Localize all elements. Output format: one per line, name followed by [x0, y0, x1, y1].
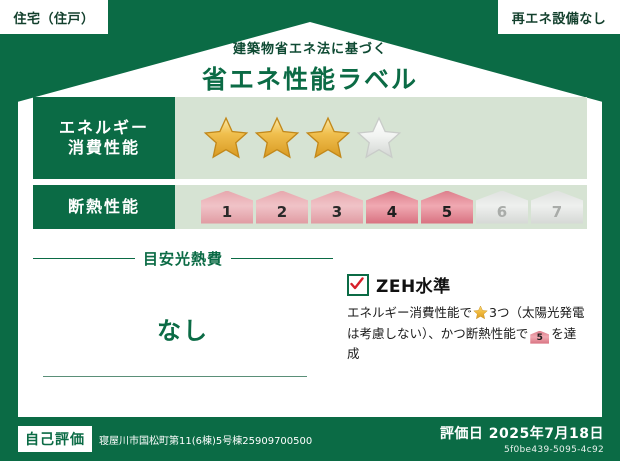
- evaluation-code: 5f0be439-5095-4c92: [440, 445, 604, 455]
- insulation-grade-5: 5: [421, 191, 473, 224]
- utility-cost-underline: [43, 376, 307, 377]
- insulation-grade-4: 4: [366, 191, 418, 224]
- insulation-grade-scale: 1234567: [201, 191, 583, 224]
- zeh-desc-star-count: 3つ（太陽光発電: [489, 305, 584, 320]
- footer-left-group: 自己評価 寝屋川市国松町第11(6棟)5号棟25909700500: [18, 426, 312, 452]
- zeh-checkbox[interactable]: [347, 274, 369, 296]
- check-icon: [350, 277, 364, 291]
- energy-label-line1: エネルギー: [59, 118, 149, 138]
- zeh-description: エネルギー消費性能で3つ（太陽光発電 は考慮しない）、かつ断熱性能で5を達成: [347, 303, 587, 365]
- zeh-desc-part1: エネルギー消費性能で: [347, 305, 472, 320]
- utility-cost-heading: 目安光熱費: [33, 248, 333, 269]
- insulation-grade-7: 7: [531, 191, 583, 224]
- energy-performance-label: 住宅（住戸） 再エネ設備なし 建築物省エネ法に基づく 省エネ性能ラベル エネルギ…: [0, 0, 620, 461]
- performance-rows: エネルギー 消費性能 断熱性能 1234567: [33, 97, 587, 235]
- renewable-equipment-badge: 再エネ設備なし: [502, 4, 616, 30]
- insulation-performance-row: 断熱性能 1234567: [33, 185, 587, 229]
- label-footer: 自己評価 寝屋川市国松町第11(6棟)5号棟25909700500 評価日 20…: [0, 417, 620, 461]
- star-empty-icon: [356, 115, 402, 161]
- property-address: 寝屋川市国松町第11(6棟)5号棟25909700500: [99, 432, 312, 447]
- insulation-grade-1: 1: [201, 191, 253, 224]
- zeh-title: ZEH水準: [376, 272, 451, 297]
- evaluation-date: 評価日 2025年7月18日: [440, 423, 604, 443]
- heading-rule-right: [231, 258, 333, 259]
- utility-cost-heading-text: 目安光熱費: [143, 248, 223, 269]
- utility-cost-value: なし: [33, 311, 333, 346]
- house-type-badge: 住宅（住戸）: [4, 4, 104, 30]
- star-filled-icon: [254, 115, 300, 161]
- footer-right-group: 評価日 2025年7月18日 5f0be439-5095-4c92: [440, 423, 604, 455]
- star-filled-icon: [305, 115, 351, 161]
- heading-rule-left: [33, 258, 135, 259]
- energy-performance-label: エネルギー 消費性能: [33, 97, 175, 179]
- utility-cost-section: 目安光熱費 なし: [33, 248, 333, 365]
- insulation-grade-2: 2: [256, 191, 308, 224]
- inline-grade-badge: 5: [530, 331, 549, 344]
- insulation-performance-label: 断熱性能: [33, 185, 175, 229]
- star-filled-icon: [203, 115, 249, 161]
- star-rating: [203, 115, 402, 161]
- insulation-label-line1: 断熱性能: [68, 197, 140, 217]
- zeh-header: ZEH水準: [347, 272, 587, 297]
- lower-section: 目安光熱費 なし ZEH水準 エネルギー消費性能で3つ（太陽光発電 は考慮しない…: [33, 248, 587, 365]
- evaluation-type-badge: 自己評価: [18, 426, 92, 452]
- insulation-grade-6: 6: [476, 191, 528, 224]
- energy-performance-row: エネルギー 消費性能: [33, 97, 587, 179]
- insulation-grade-3: 3: [311, 191, 363, 224]
- inline-star-icon: [473, 305, 488, 320]
- insulation-performance-value: 1234567: [175, 185, 587, 229]
- zeh-section: ZEH水準 エネルギー消費性能で3つ（太陽光発電 は考慮しない）、かつ断熱性能で…: [333, 248, 587, 365]
- energy-label-line2: 消費性能: [68, 138, 140, 158]
- energy-performance-value: [175, 97, 587, 179]
- zeh-desc-part2: は考慮しない）、かつ断熱性能で: [347, 326, 528, 341]
